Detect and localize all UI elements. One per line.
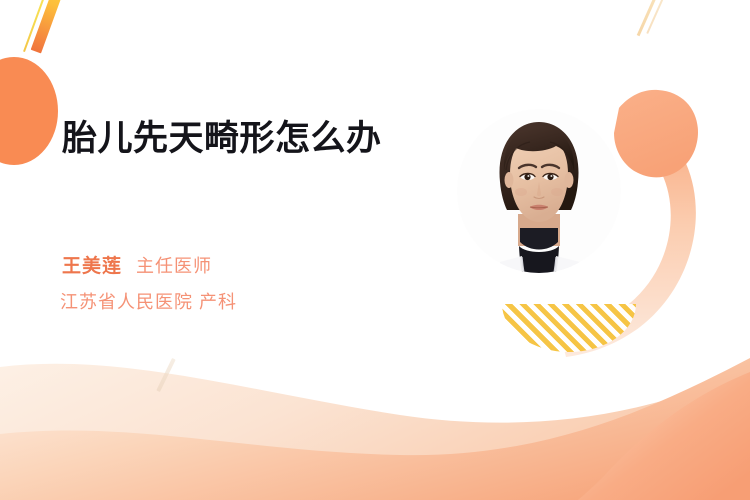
- hospital-department: 江苏省人民医院 产科: [60, 288, 237, 314]
- doctor-portrait: [434, 96, 644, 364]
- promo-card: 胎儿先天畸形怎么办 王美莲 主任医师 江苏省人民医院 产科: [0, 0, 750, 500]
- page-title: 胎儿先天畸形怎么办: [62, 118, 412, 161]
- doctor-name: 王美莲: [62, 251, 122, 278]
- doctor-rank: 主任医师: [136, 252, 212, 278]
- doctor-meta: 王美莲 主任医师: [62, 251, 212, 278]
